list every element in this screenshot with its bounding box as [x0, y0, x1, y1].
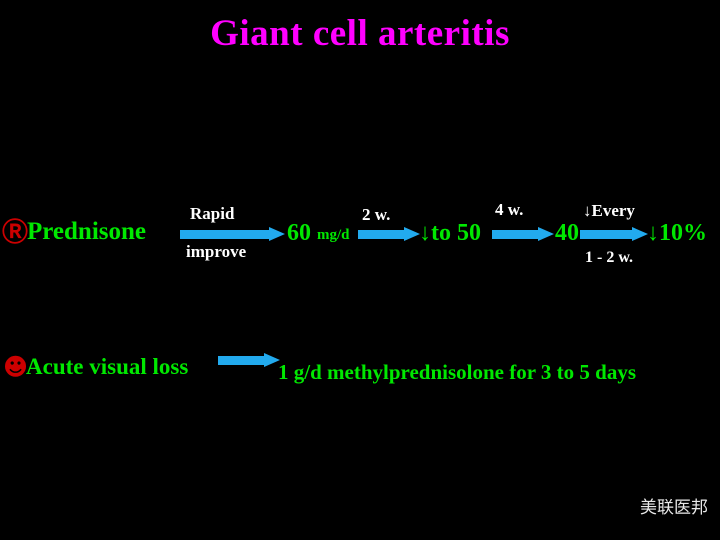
arrow-50-to-40	[492, 227, 554, 242]
arrow2-label-top: 2 w.	[362, 206, 390, 223]
arrow4-label-bottom: 1 - 2 w.	[585, 250, 633, 266]
drug-name-prednisone: Prednisone	[27, 219, 146, 244]
smiley-face-icon: ☻	[3, 355, 28, 379]
arrow-shaft	[492, 230, 538, 239]
arrow-head	[269, 227, 285, 241]
arrow-head	[538, 227, 554, 241]
condition-acute-visual-loss: Acute visual loss	[26, 355, 188, 378]
arrow4-label-top: ↓Every	[583, 202, 635, 219]
arrow-visual-loss-to-treatment	[218, 353, 280, 368]
dose-taper-10-percent: ↓10%	[647, 221, 707, 245]
dose-40: 40	[555, 221, 579, 245]
arrow-shaft	[218, 356, 264, 365]
page-title: Giant cell arteritis	[0, 12, 720, 55]
dose-60-unit: mg/d	[317, 228, 350, 243]
arrow3-label-top: 4 w.	[495, 201, 523, 218]
arrow1-label-top: Rapid	[190, 205, 234, 222]
treatment-methylprednisolone: 1 g/d methylprednisolone for 3 to 5 days	[278, 362, 636, 383]
arrow-40-to-taper	[580, 227, 648, 242]
dose-50: ↓to 50	[419, 221, 481, 245]
arrow-shaft	[358, 230, 404, 239]
arrow-60-to-50	[358, 227, 420, 242]
arrow-prednisone-to-60	[180, 227, 285, 242]
dose-60: 60	[287, 221, 311, 245]
arrow1-label-bottom: improve	[186, 243, 246, 260]
arrow-shaft	[580, 230, 632, 239]
arrow-head	[404, 227, 420, 241]
slide-canvas: Giant cell arteritis Ⓡ Prednisone Rapid …	[0, 0, 720, 540]
watermark: 美联医邦	[640, 493, 708, 518]
arrow-shaft	[180, 230, 269, 239]
rx-symbol-icon: Ⓡ	[2, 220, 28, 246]
arrow-head	[632, 227, 648, 241]
